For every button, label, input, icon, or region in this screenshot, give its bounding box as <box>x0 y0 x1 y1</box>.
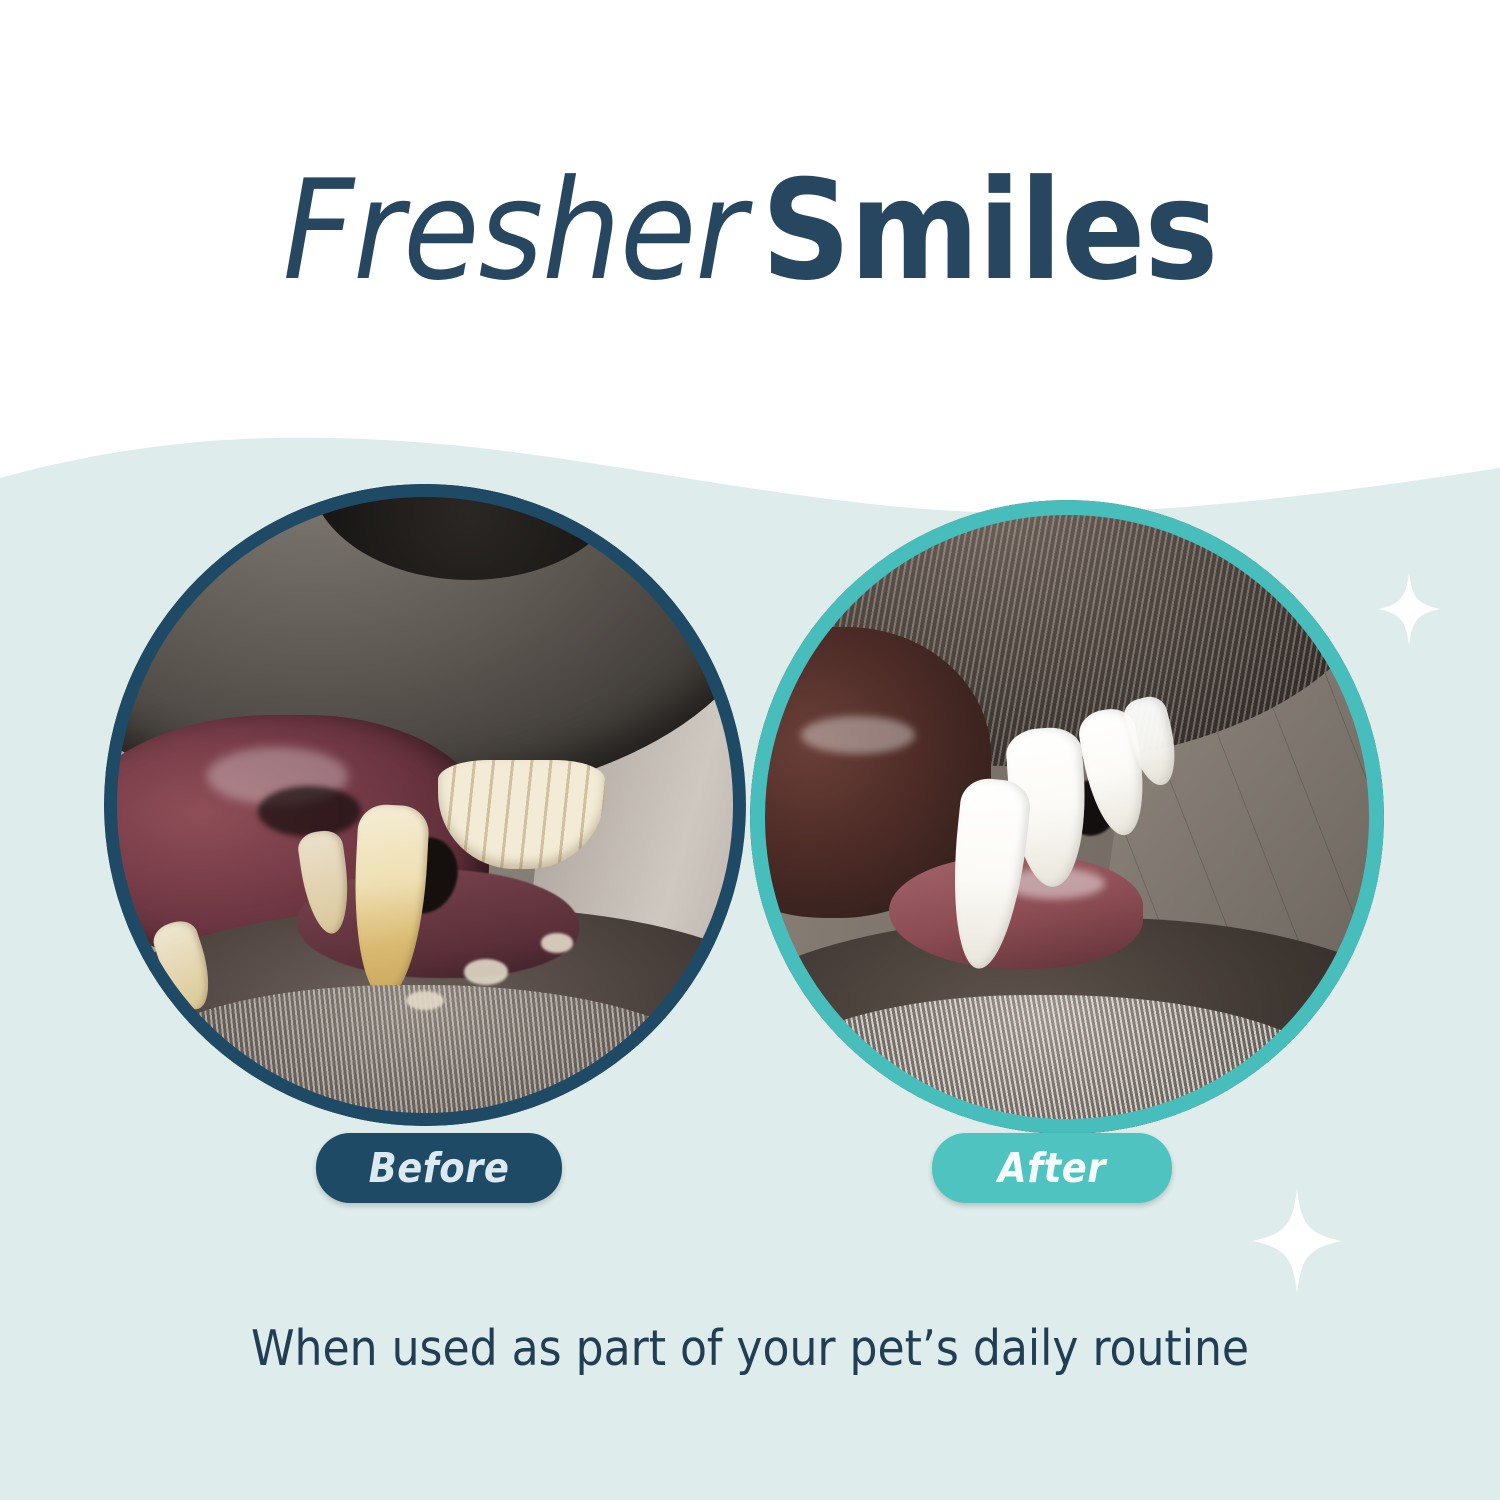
page-title: FresherSmiles <box>0 162 1500 300</box>
before-photo-circle <box>104 484 746 1126</box>
badge-before: Before <box>316 1133 562 1203</box>
sparkle-icon <box>1252 1188 1342 1294</box>
before-photo-image <box>104 484 746 1126</box>
footer-caption: When used as part of your pet’s daily ro… <box>0 1320 1500 1377</box>
after-photo-image <box>750 500 1384 1134</box>
sparkle-icon <box>1378 572 1440 646</box>
promo-canvas: FresherSmiles <box>0 0 1500 1500</box>
badge-after-label: After <box>998 1144 1106 1192</box>
badge-after: After <box>932 1133 1172 1203</box>
title-word-fresher: Fresher <box>283 150 746 311</box>
title-word-smiles: Smiles <box>761 150 1217 311</box>
badge-before-label: Before <box>369 1144 510 1192</box>
after-photo-circle <box>750 500 1384 1134</box>
